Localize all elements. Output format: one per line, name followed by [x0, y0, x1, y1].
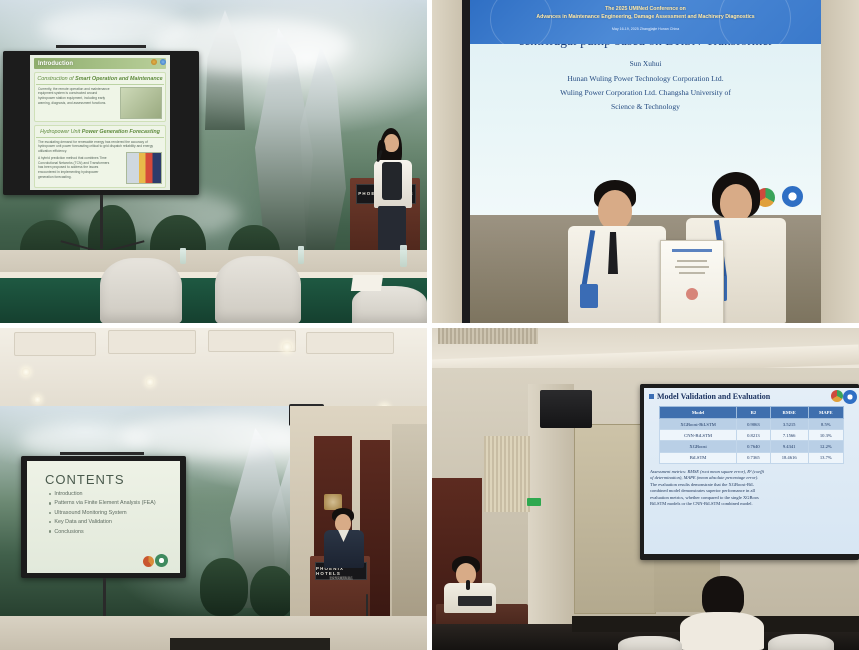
certificate-text-line: [677, 260, 707, 262]
cell-rmse: 18.4616: [770, 452, 808, 463]
list-item: Patterns via Finite Element Analysis (FE…: [49, 500, 176, 506]
heading-bullet-icon: [649, 394, 654, 399]
table-row: XGBoost 0.7640 9.4341 12.2%: [660, 441, 844, 452]
ceiling-downlight: [282, 342, 292, 352]
cell-model: XGBoost-BiLSTM: [660, 419, 737, 430]
photo-panel-top-right: The 2025 UMINed Conference on Advances i…: [432, 0, 859, 323]
cell-rmse: 7.1566: [770, 430, 808, 441]
ceiling-downlight: [34, 396, 41, 403]
wall-column-left: [432, 0, 466, 323]
presenter-head: [384, 134, 399, 152]
certificate-seal-icon: [686, 288, 698, 300]
table-header-row: Model R2 RMSE MAPE: [660, 407, 844, 419]
university-logo-icon: [155, 554, 168, 567]
slide-header-label: Introduction: [38, 61, 73, 67]
intro-section1-body: Currently, the remote operation and main…: [36, 87, 117, 106]
intro-slide: Introduction Construction of Smart Opera…: [30, 55, 170, 190]
affiliation-line2: Wuling Power Corporation Ltd. Changsha U…: [470, 87, 821, 98]
contents-title: CONTENTS: [45, 472, 176, 487]
cell-mape: 12.2%: [808, 441, 843, 452]
laptop: [458, 596, 492, 606]
cell-rmse: 9.4341: [770, 441, 808, 452]
stage-step: [170, 638, 330, 650]
affiliation-line1: Hunan Wuling Power Technology Corporatio…: [470, 73, 821, 84]
affiliation-line3: Science & Technology: [470, 101, 821, 112]
projection-screen-surface: Introduction Construction of Smart Opera…: [30, 55, 170, 190]
org-logo-icon: [143, 556, 154, 567]
chair: [618, 636, 682, 650]
recipient-head: [598, 190, 632, 230]
projection-screen-surface: CONTENTS Introduction Patterns via Finit…: [27, 461, 180, 573]
cell-model: XGBoost: [660, 441, 737, 452]
chair: [215, 256, 301, 323]
screen-border-left: [462, 0, 470, 323]
university-logo-icon: [160, 59, 166, 65]
contents-item-label: Conclusions: [54, 529, 83, 535]
intro-section2-title: Hydropower Unit Power Generation Forecas…: [36, 129, 164, 138]
water-bottle: [180, 248, 186, 264]
cell-r2: 0.7365: [737, 452, 771, 463]
eval-note-line6: BiLSTM models or the CNN-BiLSTM combined…: [650, 501, 853, 508]
photo-panel-top-left: Introduction Construction of Smart Opera…: [0, 0, 427, 323]
ceiling-speaker: [540, 390, 592, 428]
award-recipient-male: [564, 180, 674, 323]
cell-mape: 13.7%: [808, 452, 843, 463]
section2-title-emphasis: Power Generation Forecasting: [82, 129, 160, 135]
mural-fog: [40, 8, 190, 48]
mural-tree: [250, 566, 294, 618]
banner-globe-decoration: [490, 0, 552, 44]
presenter-head: [720, 184, 752, 222]
list-item: Ultrasound Monitoring System: [49, 510, 176, 516]
acoustic-panel: [484, 436, 530, 512]
photo-panel-bottom-right: Model Validation and Evaluation Model R2…: [432, 328, 859, 650]
model-metrics-table: Model R2 RMSE MAPE XGBoost-BiLSTM 0.9063…: [659, 406, 844, 464]
cell-r2: 0.9063: [737, 419, 771, 430]
certificate-text-line: [675, 266, 709, 268]
intro-section2-body2: A hybrid prediction method that combines…: [36, 156, 114, 180]
contents-item-label: Patterns via Finite Element Analysis (FE…: [54, 500, 155, 506]
intro-section1-title: Construction of Smart Operation and Main…: [36, 76, 164, 85]
eval-notes: Assessment metrics: RMSE (root mean squa…: [650, 469, 853, 508]
cell-r2: 0.7640: [737, 441, 771, 452]
table-row: CNN-BiLSTM 0.8213 7.1566 10.3%: [660, 430, 844, 441]
screen-top-bar: [60, 452, 144, 455]
water-bottle: [400, 245, 407, 267]
ceiling-coffer: [306, 332, 394, 354]
certificate-text-line: [679, 272, 705, 274]
decorative-panel: [392, 424, 427, 618]
ceiling-coffer: [14, 332, 96, 356]
cell-r2: 0.8213: [737, 430, 771, 441]
cell-mape: 10.3%: [808, 430, 843, 441]
section2-title-plain: Hydropower Unit: [40, 129, 82, 135]
column-header-model: Model: [660, 407, 737, 419]
mural-fog: [60, 190, 240, 238]
column-header-r2: R2: [737, 407, 771, 419]
contents-list: Introduction Patterns via Finite Element…: [49, 491, 176, 535]
document-paper: [351, 275, 383, 291]
org-logo-icon: [151, 59, 157, 65]
contents-item-label: Key Data and Validation: [54, 519, 111, 525]
presenter-vest: [382, 162, 402, 200]
podium-sign-line3: 张家界凤凰国际酒店: [329, 576, 352, 580]
water-bottle: [298, 246, 304, 264]
column-header-mape: MAPE: [808, 407, 843, 419]
paper-author: Sun Xuhui: [470, 59, 821, 68]
banner-globe-decoration: [719, 0, 791, 44]
cell-rmse: 3.5215: [770, 419, 808, 430]
audience-shoulders: [680, 612, 764, 650]
cell-model: CNN-BiLSTM: [660, 430, 737, 441]
section1-title-plain: Construction of: [37, 76, 75, 82]
list-item: Introduction: [49, 491, 176, 497]
projection-screen-surface: Model Validation and Evaluation Model R2…: [644, 388, 859, 554]
cell-model: BiLSTM: [660, 452, 737, 463]
intro-section1-image: [120, 87, 162, 119]
contents-slide: CONTENTS Introduction Patterns via Finit…: [27, 461, 180, 573]
slide-header: Introduction: [34, 58, 166, 69]
ceiling-vent-grille: [438, 328, 538, 344]
ceiling-downlight: [22, 368, 30, 376]
screen-top-bar: [56, 45, 146, 48]
chair: [352, 286, 427, 323]
eval-slide-heading: Model Validation and Evaluation: [649, 392, 859, 401]
column-header-rmse: RMSE: [770, 407, 808, 419]
ceiling-coffer: [108, 330, 196, 354]
list-item: Key Data and Validation: [49, 519, 176, 525]
ceiling-downlight: [146, 378, 154, 386]
table-row: XGBoost-BiLSTM 0.9063 3.5215 8.5%: [660, 419, 844, 430]
audience-member: [680, 576, 764, 650]
chair: [100, 258, 182, 323]
mural-tree: [200, 558, 248, 616]
cell-mape: 8.5%: [808, 419, 843, 430]
model-evaluation-slide: Model Validation and Evaluation Model R2…: [644, 388, 859, 554]
table-row: BiLSTM 0.7365 18.4616 13.7%: [660, 452, 844, 463]
conference-banner: The 2025 UMINed Conference on Advances i…: [470, 0, 821, 44]
section1-title-emphasis: Smart Operation and Maintenance: [75, 76, 162, 82]
photo-panel-bottom-left: CONTENTS Introduction Patterns via Finit…: [0, 328, 427, 650]
chair: [768, 634, 834, 650]
university-logo-icon: [843, 390, 857, 404]
eval-heading-label: Model Validation and Evaluation: [657, 392, 770, 401]
intro-section2-chart: [126, 152, 162, 184]
contents-item-label: Introduction: [54, 491, 82, 497]
contents-item-label: Ultrasound Monitoring System: [54, 510, 126, 516]
certificate: [660, 240, 724, 323]
screen-tripod-pole: [100, 195, 103, 249]
certificate-header-line: [672, 249, 712, 252]
list-item: Conclusions: [49, 529, 176, 535]
recipient-badge: [580, 284, 598, 308]
presenter-female: [368, 128, 418, 268]
wall-column-right: [817, 0, 859, 323]
org-logo-icon: [831, 390, 843, 402]
microphone: [466, 580, 470, 590]
photo-collage: Introduction Construction of Smart Opera…: [0, 0, 859, 650]
presenter-male: [322, 508, 368, 568]
exit-sign-icon: [527, 498, 541, 506]
